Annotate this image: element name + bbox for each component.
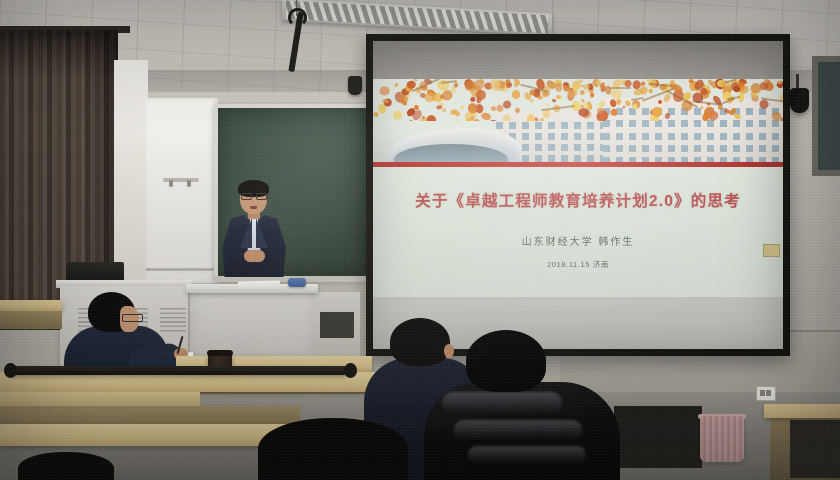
slide-banner-photo bbox=[373, 79, 783, 167]
presenter-glasses-left bbox=[241, 193, 252, 200]
slide-title: 关于《卓越工程师教育培养计划2.0》的思考 bbox=[415, 189, 741, 211]
desk-rail-cap bbox=[4, 363, 17, 378]
hook-rack-icon bbox=[163, 178, 199, 182]
audience-foreground-left bbox=[18, 452, 114, 480]
dark-cabinet bbox=[614, 406, 702, 468]
curtain-shadow bbox=[0, 30, 118, 80]
thermos-lid bbox=[207, 350, 233, 356]
screen-surface: 关于《卓越工程师教育培养计划2.0》的思考 山东财经大学 韩作生 2018.11… bbox=[373, 41, 783, 349]
pink-wastebasket bbox=[700, 416, 744, 462]
presenter-hands bbox=[244, 250, 265, 262]
panel-seam bbox=[146, 268, 218, 271]
presenter-glasses-right bbox=[256, 193, 267, 200]
wall-outlet-icon bbox=[756, 386, 776, 401]
autumn-foliage bbox=[373, 79, 783, 121]
side-desk-shadow bbox=[790, 420, 840, 478]
note-taker-glasses bbox=[122, 314, 143, 322]
audience-foreground-center bbox=[258, 418, 408, 480]
wall-speaker-icon bbox=[790, 88, 809, 113]
audience-puffer-jacket bbox=[442, 330, 602, 480]
projection-screen: 关于《卓越工程师教育培养计划2.0》的思考 山东财经大学 韩作生 2018.11… bbox=[366, 34, 790, 356]
projected-slide: 关于《卓越工程师教育培养计划2.0》的思考 山东财经大学 韩作生 2018.11… bbox=[373, 79, 783, 297]
slide-date-location: 2018.11.15 济南 bbox=[547, 259, 609, 270]
door-glass bbox=[818, 62, 840, 170]
desk-top bbox=[0, 424, 300, 446]
ceiling-speaker-icon bbox=[348, 76, 362, 95]
screen-upper-band bbox=[373, 41, 783, 79]
slide-body: 关于《卓越工程师教育培养计划2.0》的思考 山东财经大学 韩作生 2018.11… bbox=[373, 167, 783, 297]
desk-top bbox=[0, 300, 62, 311]
white-wall-panel bbox=[146, 98, 218, 283]
blue-tape-dispenser bbox=[288, 278, 306, 287]
desk-rail bbox=[8, 366, 348, 375]
podium-shelf-opening bbox=[320, 312, 354, 338]
desk-top bbox=[0, 372, 376, 392]
desk-front bbox=[0, 311, 62, 329]
side-desk-top bbox=[764, 404, 840, 418]
presenter-mouth bbox=[250, 206, 257, 209]
lectern-body bbox=[190, 292, 314, 358]
puffer-jacket-body bbox=[424, 382, 620, 480]
classroom-presentation-photo: 关于《卓越工程师教育培养计划2.0》的思考 山东财经大学 韩作生 2018.11… bbox=[0, 0, 840, 480]
lectern-papers bbox=[238, 280, 280, 288]
desk-ledge bbox=[0, 392, 200, 406]
foreground-left-hair bbox=[18, 452, 114, 480]
slide-author: 山东财经大学 韩作生 bbox=[522, 233, 635, 248]
presenter bbox=[218, 182, 290, 290]
desk-rail-cap bbox=[344, 363, 357, 378]
puffer-jacket-hair bbox=[466, 330, 546, 392]
foreground-center-hair bbox=[258, 418, 408, 480]
wall-plate-icon bbox=[763, 244, 780, 257]
seated-suit-hair bbox=[390, 318, 450, 366]
